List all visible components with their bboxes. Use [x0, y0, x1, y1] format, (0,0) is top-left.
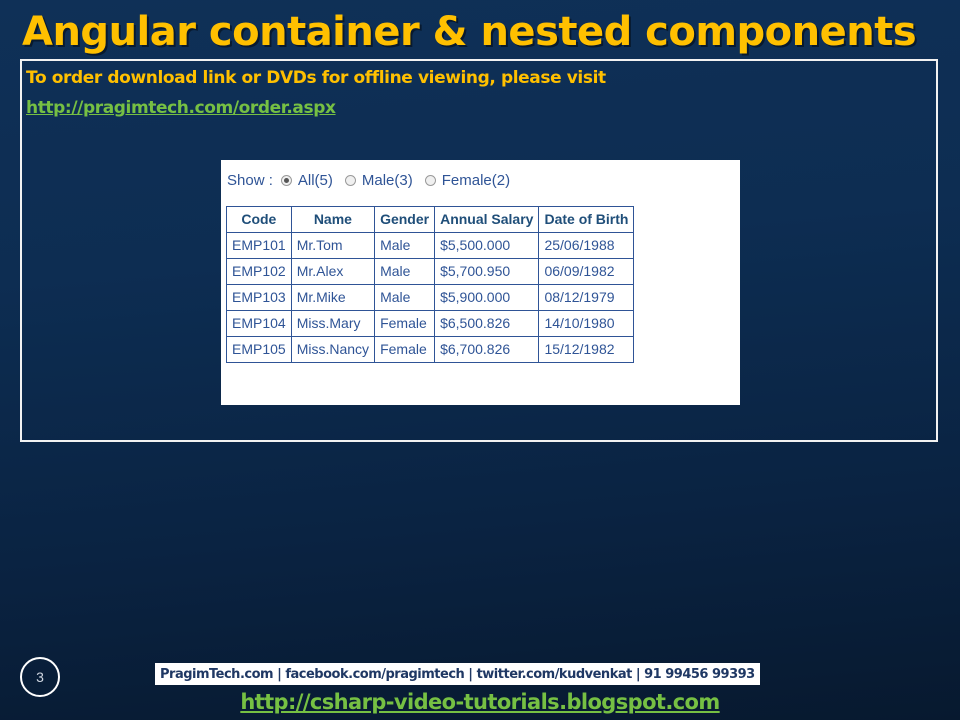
- radio-option-male[interactable]: Male(3): [345, 172, 413, 189]
- table-row: EMP105 Miss.Nancy Female $6,700.826 15/1…: [227, 337, 634, 363]
- cell-salary: $6,700.826: [435, 337, 539, 363]
- radio-label-male: Male(3): [362, 172, 413, 189]
- blog-link[interactable]: http://csharp-video-tutorials.blogspot.c…: [0, 690, 960, 714]
- cell-dob: 06/09/1982: [539, 259, 634, 285]
- table-row: EMP101 Mr.Tom Male $5,500.000 25/06/1988: [227, 233, 634, 259]
- cell-code: EMP102: [227, 259, 292, 285]
- column-header-name: Name: [291, 207, 374, 233]
- cell-name: Mr.Mike: [291, 285, 374, 311]
- cell-dob: 14/10/1980: [539, 311, 634, 337]
- cell-name: Mr.Alex: [291, 259, 374, 285]
- radio-icon-all[interactable]: [281, 175, 292, 186]
- radio-icon-male[interactable]: [345, 175, 356, 186]
- radio-icon-female[interactable]: [425, 175, 436, 186]
- cell-salary: $6,500.826: [435, 311, 539, 337]
- cell-gender: Female: [375, 337, 435, 363]
- cell-dob: 15/12/1982: [539, 337, 634, 363]
- cell-code: EMP103: [227, 285, 292, 311]
- table-header-row: Code Name Gender Annual Salary Date of B…: [227, 207, 634, 233]
- column-header-gender: Gender: [375, 207, 435, 233]
- table-row: EMP103 Mr.Mike Male $5,900.000 08/12/197…: [227, 285, 634, 311]
- cell-code: EMP105: [227, 337, 292, 363]
- cell-code: EMP101: [227, 233, 292, 259]
- cell-name: Miss.Nancy: [291, 337, 374, 363]
- cell-name: Miss.Mary: [291, 311, 374, 337]
- footer-contact-banner: PragimTech.com | facebook.com/pragimtech…: [155, 663, 760, 685]
- table-row: EMP102 Mr.Alex Male $5,700.950 06/09/198…: [227, 259, 634, 285]
- column-header-code: Code: [227, 207, 292, 233]
- cell-dob: 08/12/1979: [539, 285, 634, 311]
- cell-dob: 25/06/1988: [539, 233, 634, 259]
- order-page-link[interactable]: http://pragimtech.com/order.aspx: [26, 98, 336, 118]
- cell-salary: $5,900.000: [435, 285, 539, 311]
- employee-table: Code Name Gender Annual Salary Date of B…: [226, 206, 634, 363]
- radio-label-all: All(5): [298, 172, 333, 189]
- cell-gender: Male: [375, 233, 435, 259]
- cell-salary: $5,700.950: [435, 259, 539, 285]
- cell-name: Mr.Tom: [291, 233, 374, 259]
- table-header: Code Name Gender Annual Salary Date of B…: [227, 207, 634, 233]
- gender-filter-bar: Show : All(5) Male(3) Female(2): [227, 170, 522, 190]
- app-screenshot-panel: Show : All(5) Male(3) Female(2) Code Nam…: [221, 160, 740, 405]
- page-title: Angular container & nested components: [22, 8, 942, 56]
- column-header-salary: Annual Salary: [435, 207, 539, 233]
- cell-code: EMP104: [227, 311, 292, 337]
- table-row: EMP104 Miss.Mary Female $6,500.826 14/10…: [227, 311, 634, 337]
- cell-gender: Male: [375, 285, 435, 311]
- radio-option-all[interactable]: All(5): [281, 172, 333, 189]
- cell-salary: $5,500.000: [435, 233, 539, 259]
- table-body: EMP101 Mr.Tom Male $5,500.000 25/06/1988…: [227, 233, 634, 363]
- column-header-dob: Date of Birth: [539, 207, 634, 233]
- radio-label-female: Female(2): [442, 172, 510, 189]
- filter-label: Show :: [227, 172, 273, 189]
- radio-option-female[interactable]: Female(2): [425, 172, 510, 189]
- cell-gender: Female: [375, 311, 435, 337]
- order-instructions-text: To order download link or DVDs for offli…: [26, 68, 606, 88]
- cell-gender: Male: [375, 259, 435, 285]
